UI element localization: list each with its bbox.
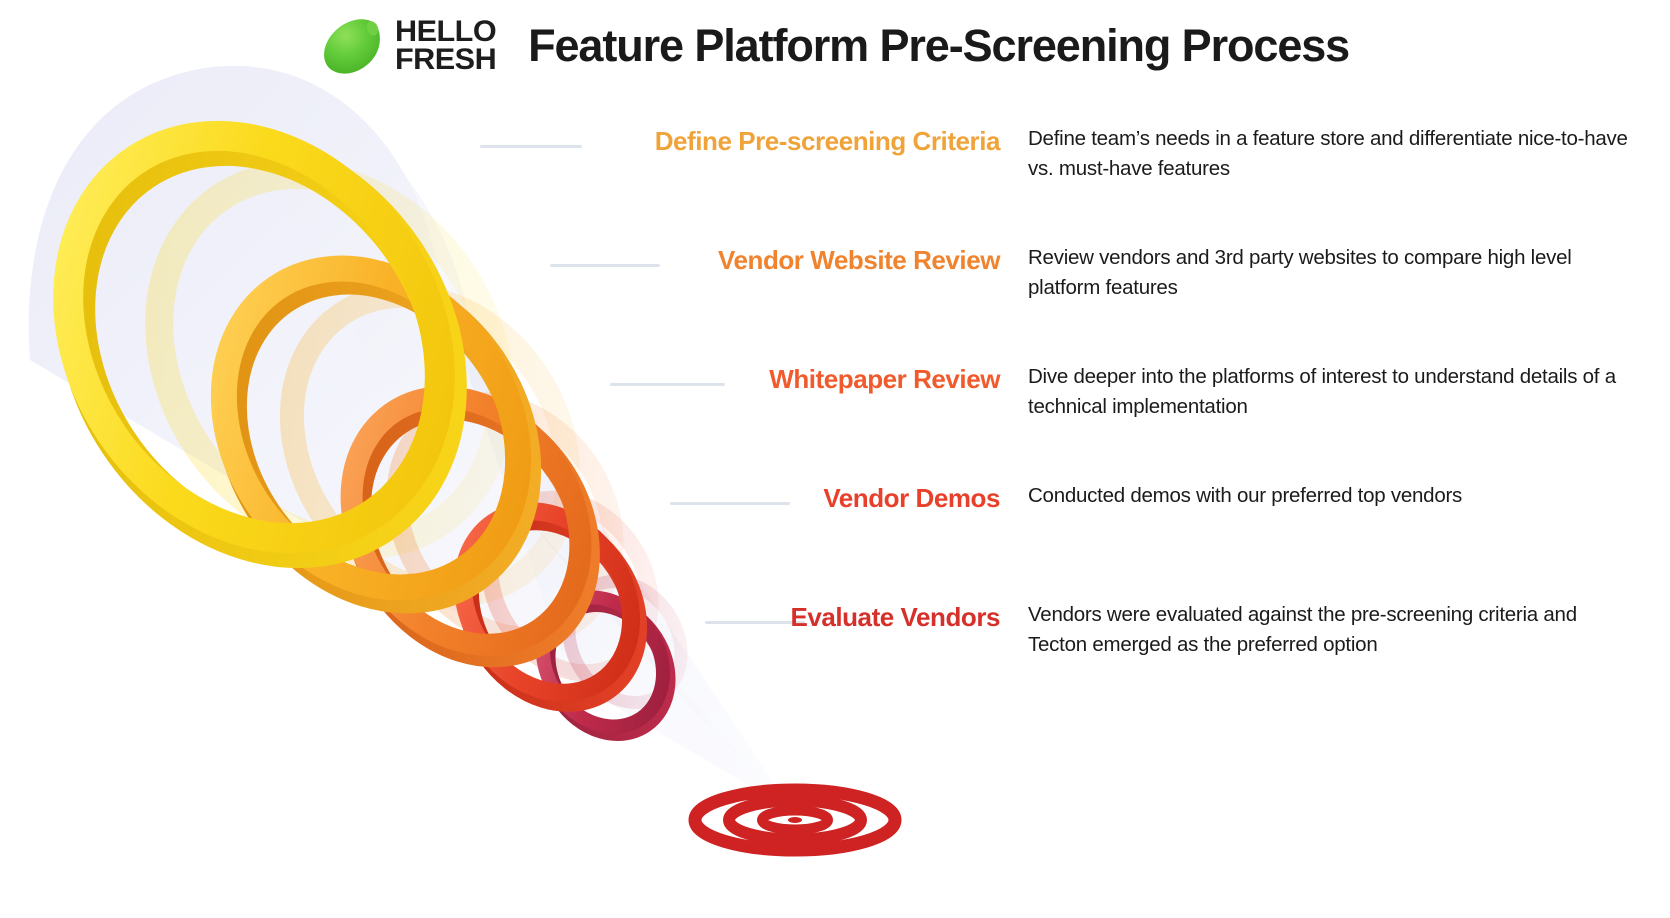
step-row-whitepaper-review[interactable]: Whitepaper Review Dive deeper into the p… xyxy=(520,350,1660,469)
step-title-5: Evaluate Vendors xyxy=(510,602,1000,633)
step-row-vendor-demos[interactable]: Vendor Demos Conducted demos with our pr… xyxy=(520,469,1660,588)
step-row-vendor-website-review[interactable]: Vendor Website Review Review vendors and… xyxy=(520,231,1660,350)
step-row-define-pre-screening-criteria[interactable]: Define Pre-screening Criteria Define tea… xyxy=(520,112,1660,231)
hellofresh-logo: HELLO FRESH xyxy=(321,17,494,75)
step-row-evaluate-vendors[interactable]: Evaluate Vendors Vendors were evaluated … xyxy=(520,588,1660,707)
hellofresh-wordmark: HELLO FRESH xyxy=(395,18,494,74)
lemon-icon xyxy=(321,17,383,75)
infographic-canvas: HELLO FRESH Feature Platform Pre-Screeni… xyxy=(0,0,1670,918)
page-title: Feature Platform Pre-Screening Process xyxy=(528,20,1349,72)
step-description-5: Vendors were evaluated against the pre-s… xyxy=(1028,600,1628,660)
bullseye-target-icon xyxy=(695,790,895,850)
header: HELLO FRESH Feature Platform Pre-Screeni… xyxy=(0,0,1670,92)
step-description-4: Conducted demos with our preferred top v… xyxy=(1028,481,1628,511)
step-description-1: Define team’s needs in a feature store a… xyxy=(1028,124,1628,184)
step-description-3: Dive deeper into the platforms of intere… xyxy=(1028,362,1628,422)
step-title-1: Define Pre-screening Criteria xyxy=(510,126,1000,157)
step-title-3: Whitepaper Review xyxy=(510,364,1000,395)
step-title-2: Vendor Website Review xyxy=(510,245,1000,276)
step-title-4: Vendor Demos xyxy=(510,483,1000,514)
brand-line-fresh: FRESH xyxy=(395,46,496,74)
brand-line-hello: HELLO xyxy=(395,18,496,46)
process-steps-list: Define Pre-screening Criteria Define tea… xyxy=(520,112,1660,707)
step-description-2: Review vendors and 3rd party websites to… xyxy=(1028,243,1628,303)
